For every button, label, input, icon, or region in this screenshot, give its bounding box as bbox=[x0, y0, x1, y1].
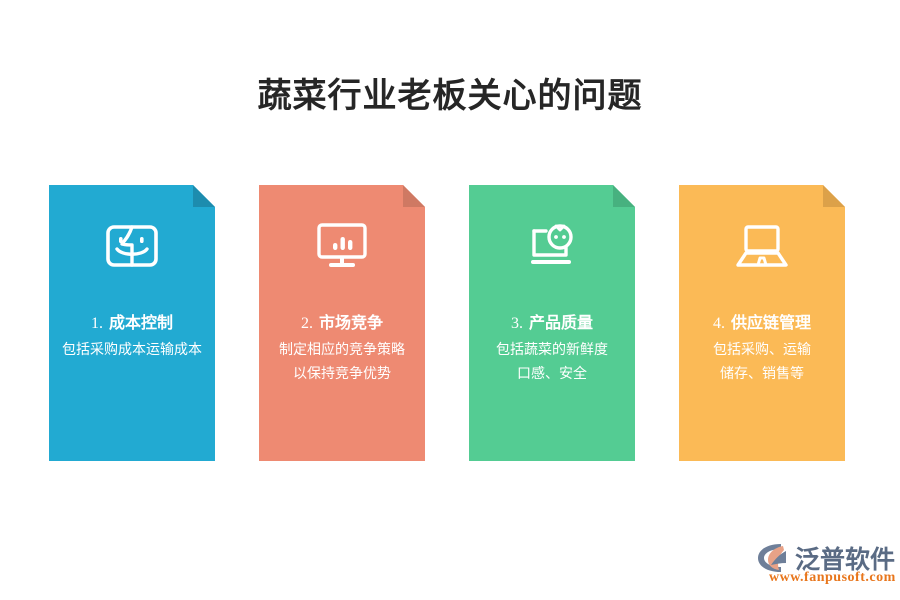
card-description: 制定相应的竞争策略 以保持竞争优势 bbox=[227, 337, 457, 385]
card-description: 包括采购、运输 储存、销售等 bbox=[647, 337, 877, 385]
card-heading: 3.产品质量 bbox=[439, 309, 665, 333]
card-title: 供应链管理 bbox=[731, 315, 811, 332]
laptop-tomato-icon bbox=[469, 215, 635, 277]
brand-logo[interactable]: 泛普软件 www.fanpusoft.com bbox=[757, 540, 893, 586]
fanpu-swoosh-logo-mark bbox=[757, 543, 791, 573]
card-fold-corner bbox=[613, 185, 635, 207]
card-index: 2. bbox=[301, 315, 313, 332]
card-description: 包括蔬菜的新鲜度 口感、安全 bbox=[437, 337, 667, 385]
cards-row: 1.成本控制 包括采购成本运输成本 2.市场竞争 制定相应的竞 bbox=[0, 185, 900, 461]
card-heading: 4.供应链管理 bbox=[649, 309, 875, 333]
card-supply-chain-management[interactable]: 4.供应链管理 包括采购、运输 储存、销售等 bbox=[679, 185, 845, 461]
card-title: 产品质量 bbox=[529, 315, 593, 332]
card-heading: 2.市场竞争 bbox=[229, 309, 455, 333]
card-product-quality[interactable]: 3.产品质量 包括蔬菜的新鲜度 口感、安全 bbox=[469, 185, 635, 461]
card-heading: 1.成本控制 bbox=[19, 309, 245, 333]
card-fold-corner bbox=[193, 185, 215, 207]
infographic-page: 蔬菜行业老板关心的问题 1.成本控制 包括采购成本运输成本 bbox=[0, 0, 900, 600]
card-market-competition[interactable]: 2.市场竞争 制定相应的竞争策略 以保持竞争优势 bbox=[259, 185, 425, 461]
card-index: 3. bbox=[511, 315, 523, 332]
finder-face-icon bbox=[49, 215, 215, 277]
card-title: 成本控制 bbox=[109, 315, 173, 332]
card-title: 市场竞争 bbox=[319, 315, 383, 332]
card-index: 4. bbox=[713, 315, 725, 332]
page-title: 蔬菜行业老板关心的问题 bbox=[0, 68, 900, 117]
card-fold-corner bbox=[403, 185, 425, 207]
card-description: 包括采购成本运输成本 bbox=[17, 337, 247, 361]
monitor-bar-chart-icon bbox=[259, 215, 425, 277]
card-cost-control[interactable]: 1.成本控制 包括采购成本运输成本 bbox=[49, 185, 215, 461]
laptop-icon bbox=[679, 215, 845, 277]
card-index: 1. bbox=[91, 315, 103, 332]
logo-url: www.fanpusoft.com bbox=[769, 570, 896, 586]
card-fold-corner bbox=[823, 185, 845, 207]
